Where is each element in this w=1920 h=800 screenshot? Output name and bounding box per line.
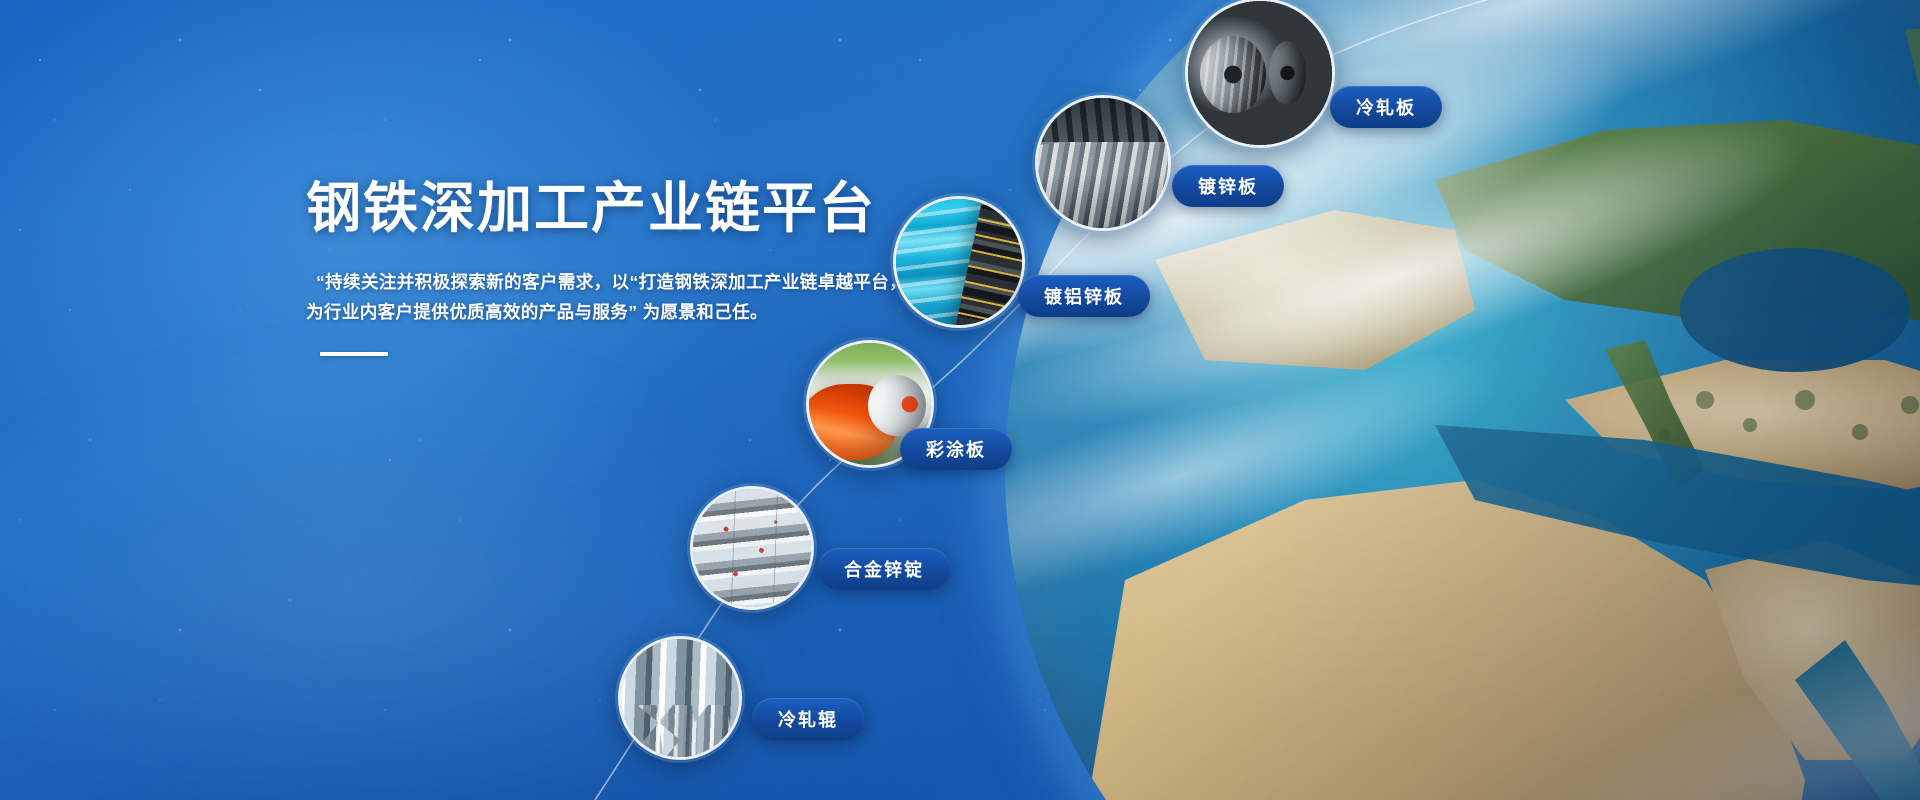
product-label-color-coated-plate[interactable]: 彩涂板: [900, 428, 1012, 470]
landmass-europe: [1435, 120, 1920, 330]
product-label-aluzinc-plate[interactable]: 镀铝锌板: [1018, 275, 1150, 317]
product-image-aluzinc-plate[interactable]: [893, 196, 1025, 328]
starfield-layer-2: [0, 0, 1920, 800]
landmass-iberia: [1155, 210, 1475, 370]
ingot-photo-icon: [693, 489, 811, 607]
hero-banner: 钢铁深加工产业链平台 “持续关注并积极探索新的客户需求，以“打造钢铁深加工产业链…: [0, 0, 1920, 800]
product-label-galvanized-plate[interactable]: 镀锌板: [1172, 165, 1284, 207]
landmass-arabia: [1705, 540, 1920, 760]
terrain-speckle: [1659, 390, 1920, 447]
water-mediterranean: [1435, 425, 1920, 600]
hero-subtitle: “持续关注并积极探索新的客户需求，以“打造钢铁深加工产业链卓越平台， 为行业内客…: [306, 267, 946, 328]
coil-photo-icon: [1188, 1, 1332, 145]
starfield-layer-1: [0, 0, 1920, 800]
hero-copy-block: 钢铁深加工产业链平台 “持续关注并积极探索新的客户需求，以“打造钢铁深加工产业链…: [306, 178, 946, 356]
roller-photo-icon: [621, 639, 739, 757]
cyan-sheet-photo-icon: [896, 199, 1022, 325]
hero-subtitle-line-2: 为行业内客户提供优质高效的产品与服务” 为愿景和己任。: [306, 297, 946, 328]
product-label-cold-rolling-roller[interactable]: 冷轧辊: [752, 698, 864, 740]
product-image-galvanized-plate[interactable]: [1035, 95, 1171, 231]
product-label-zinc-alloy-ingot[interactable]: 合金锌锭: [818, 548, 950, 590]
warehouse-photo-icon: [1038, 98, 1168, 228]
landmass-anatolia: [1565, 360, 1920, 490]
product-image-zinc-alloy-ingot[interactable]: [690, 486, 814, 610]
product-image-cold-rolling-roller[interactable]: [618, 636, 742, 760]
product-label-cold-rolled-plate[interactable]: 冷轧板: [1330, 86, 1442, 128]
connector-curve: [0, 0, 1920, 800]
water-red-sea: [1795, 640, 1920, 800]
landmass-africa: [1085, 480, 1805, 800]
title-divider: [320, 352, 388, 356]
page-title: 钢铁深加工产业链平台: [306, 178, 946, 239]
landmass-italy: [1605, 340, 1705, 490]
landmass-scandinavia: [1905, 0, 1920, 210]
product-image-cold-rolled-plate[interactable]: [1185, 0, 1335, 148]
hero-subtitle-line-1: “持续关注并积极探索新的客户需求，以“打造钢铁深加工产业链卓越平台，: [316, 267, 946, 298]
water-black-sea: [1680, 248, 1910, 372]
